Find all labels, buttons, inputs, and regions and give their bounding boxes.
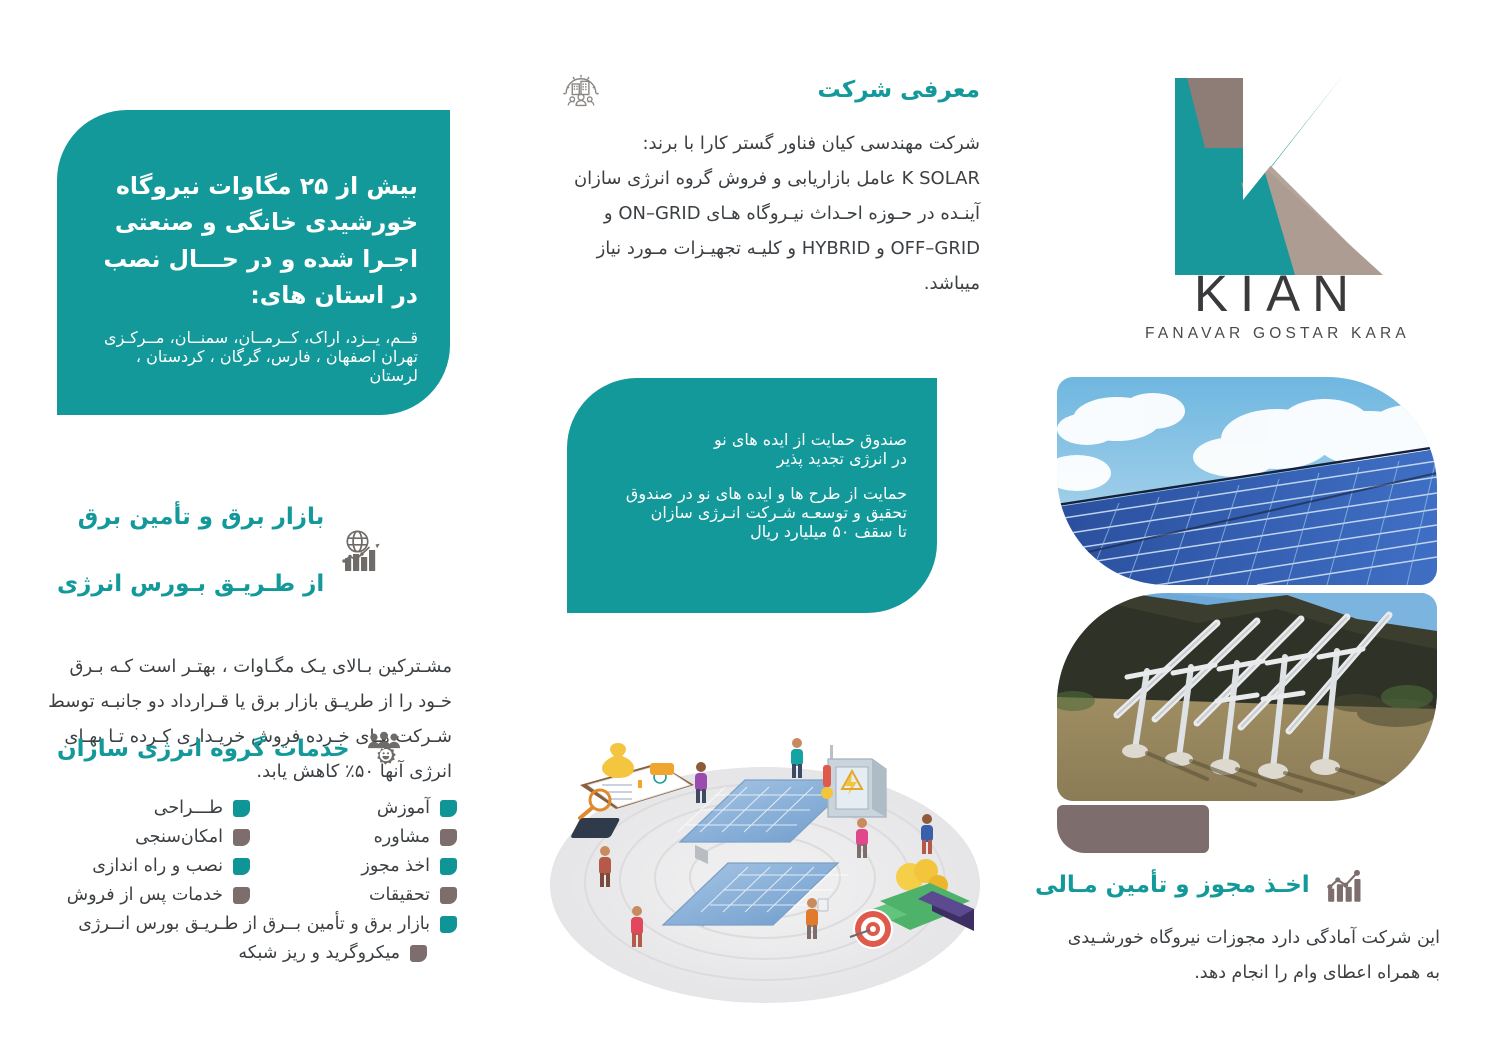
globe-bar-chart-icon xyxy=(336,525,388,577)
power-market-line-1: مشـترکین بـالای یـک مگـاوات ، بهتـر است … xyxy=(57,649,452,684)
capacity-highlight-box: بیش از ۲۵ مگاوات نیروگاه خورشیدی خانگی و… xyxy=(57,110,450,415)
logo-tagline-text: FANAVAR GOSTAR KARA xyxy=(1145,325,1410,343)
service-label: مشاوره xyxy=(374,827,430,847)
bullet-icon xyxy=(440,829,457,846)
service-item-5: نصب و راه اندازی xyxy=(57,856,250,876)
services-heading: خدمات گروه انرژی سازان xyxy=(57,733,350,766)
company-intro-heading-row: معرفی شرکت xyxy=(560,70,980,112)
intro-line-2: K SOLAR عامل بازاریابی و فروش گروه انرژی… xyxy=(560,161,980,196)
bullet-icon xyxy=(233,800,250,817)
accent-bar xyxy=(1057,805,1209,853)
service-label: بازار برق و تأمین بــرق از طـریـق بورس ا… xyxy=(78,914,430,934)
intro-line-3: آینـده در حـوزه احـداث نیـروگاه هـای ON–… xyxy=(560,196,980,231)
power-market-heading-line-2: از طـریـق بـورس انرژی xyxy=(57,568,324,601)
finance-line-1: این شرکت آمادگی دارد مجوزات نیروگاه خورش… xyxy=(1035,921,1440,956)
finance-heading: اخـذ مجوز و تأمین مـالی xyxy=(1035,869,1310,902)
service-label: طـــراحی xyxy=(154,798,223,818)
fund-title-line-2: در انرژی تجدید پذیر xyxy=(593,449,907,468)
service-item-6: تحقیقات xyxy=(264,885,457,905)
fund-ceiling-prefix: تا سقف xyxy=(849,522,907,541)
fund-line-1: حمایت از طرح ها و ایده های نو در صندوق xyxy=(593,484,907,503)
services-section: خدمات گروه انرژی سازان آموزش طـــراحی مش… xyxy=(57,728,457,963)
solar-panel-array-photo xyxy=(1057,377,1437,585)
intro-line-4: OFF–GRID و HYBRID و کلیـه تجهیـزات مـورد… xyxy=(560,231,980,266)
services-list: آموزش طـــراحی مشاوره امکان‌سنجی اخذ مجو… xyxy=(57,798,457,963)
company-intro-body: شرکت مهندسی کیان فناور گستر کارا با برند… xyxy=(560,126,980,301)
bullet-icon xyxy=(410,945,427,962)
service-label: نصب و راه اندازی xyxy=(92,856,223,876)
bullet-icon xyxy=(440,916,457,933)
power-market-line-2: خـود را از طریـق بازار برق یا قـرارداد د… xyxy=(57,684,452,719)
service-label: آموزش xyxy=(377,798,430,818)
gear-people-icon xyxy=(362,728,406,772)
fund-line-3: تا سقف ۵۰ میلیارد ریال xyxy=(593,522,907,541)
factory-gear-people-icon xyxy=(560,70,602,112)
service-item-9: میکروگرید و ریز شبکه xyxy=(57,943,457,963)
service-label: خدمات پس از فروش xyxy=(67,885,223,905)
bullet-icon xyxy=(440,887,457,904)
isometric-solar-project-illustration xyxy=(540,725,990,1015)
provinces-line-1: قــم، یــزد، اراک، کــرمــان، سمنــان، م… xyxy=(85,328,418,347)
capacity-title: بیش از ۲۵ مگاوات نیروگاه خورشیدی خانگی و… xyxy=(85,168,418,314)
bullet-icon xyxy=(440,800,457,817)
service-label: تحقیقات xyxy=(369,885,430,905)
power-market-heading-line-1: بازار برق و تأمین برق xyxy=(57,501,324,534)
service-item-3: امکان‌سنجی xyxy=(57,827,250,847)
finance-heading-row: اخـذ مجوز و تأمین مـالی xyxy=(1035,865,1440,907)
power-market-heading-row: بازار برق و تأمین برق از طـریـق بـورس ان… xyxy=(57,468,452,635)
bullet-icon xyxy=(233,858,250,875)
service-item-7: خدمات پس از فروش xyxy=(57,885,250,905)
electrical-cabinet-icon xyxy=(821,745,886,817)
bar-chart-trend-icon xyxy=(1322,865,1364,907)
service-label: امکان‌سنجی xyxy=(135,827,223,847)
fund-ceiling-amount: ۵۰ میلیارد ریال xyxy=(750,522,849,541)
solar-mounting-structure-photo xyxy=(1057,593,1437,801)
finance-section: اخـذ مجوز و تأمین مـالی این شرکت آمادگی … xyxy=(1035,865,1440,991)
bullet-icon xyxy=(440,858,457,875)
intro-line-1: شرکت مهندسی کیان فناور گستر کارا با برند… xyxy=(560,126,980,161)
power-market-heading: بازار برق و تأمین برق از طـریـق بـورس ان… xyxy=(57,468,324,635)
bullet-icon xyxy=(233,887,250,904)
service-label: اخذ مجوز xyxy=(361,856,430,876)
provinces-line-2: تهران اصفهان ، فارس، گرگان ، کردستان ، ل… xyxy=(85,347,418,385)
brochure-page: بیش از ۲۵ مگاوات نیروگاه خورشیدی خانگی و… xyxy=(0,0,1500,1060)
finance-body: این شرکت آمادگی دارد مجوزات نیروگاه خورش… xyxy=(1035,921,1440,991)
service-item-2: مشاوره xyxy=(264,827,457,847)
bullet-icon xyxy=(233,829,250,846)
service-item-8: بازار برق و تأمین بــرق از طـریـق بورس ا… xyxy=(57,914,457,934)
kian-logo-wordmark: KIAN FANAVAR GOSTAR KARA xyxy=(1145,268,1410,343)
service-item-0: آموزش xyxy=(264,798,457,818)
fund-line-2: تحقیق و توسعـه شـرکت انـرژی سازان xyxy=(593,503,907,522)
fund-title-line-1: صندوق حمایت از ایده های نو xyxy=(593,430,907,449)
innovation-fund-box: صندوق حمایت از ایده های نو در انرژی تجدی… xyxy=(567,378,937,613)
service-item-1: طـــراحی xyxy=(57,798,250,818)
service-item-4: اخذ مجوز xyxy=(264,856,457,876)
company-intro-section: معرفی شرکت xyxy=(560,70,980,301)
company-intro-heading: معرفی شرکت xyxy=(614,74,980,107)
intro-line-5: میباشد. xyxy=(560,266,980,301)
services-heading-row: خدمات گروه انرژی سازان xyxy=(57,728,457,772)
logo-kian-text: KIAN xyxy=(1145,268,1410,319)
finance-line-2: به همراه اعطای وام را انجام دهد. xyxy=(1035,956,1440,991)
service-label: میکروگرید و ریز شبکه xyxy=(238,943,400,963)
